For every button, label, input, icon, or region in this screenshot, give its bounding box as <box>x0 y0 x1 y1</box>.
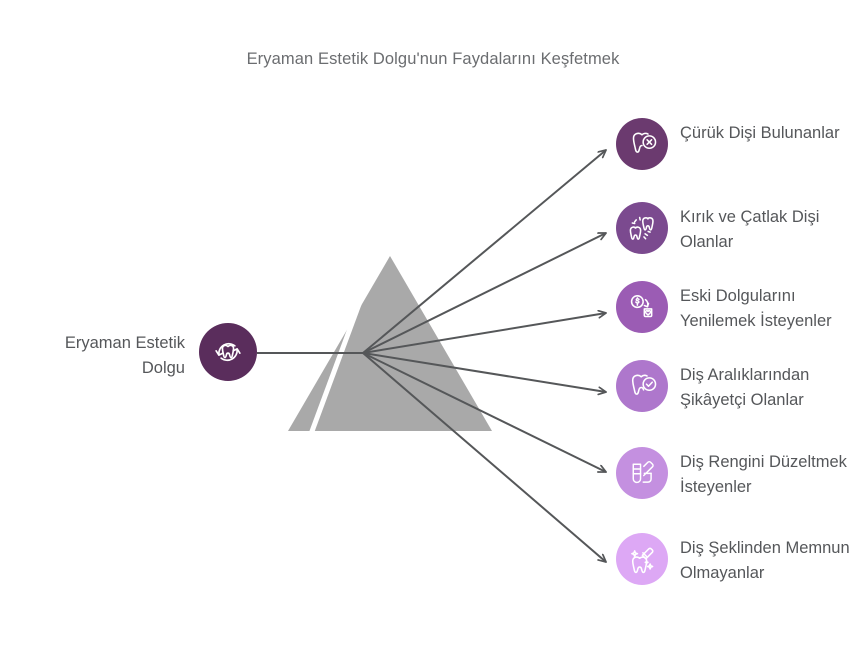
benefit-label-3: Eski Dolgularını Yenilemek İsteyenler <box>680 281 855 333</box>
coin-refresh-icon <box>625 290 659 324</box>
benefit-label-1: Çürük Dişi Bulunanlar <box>680 118 840 146</box>
benefit-icon-1 <box>616 118 668 170</box>
benefit-label-5: Diş Rengini Düzeltmek İsteyenler <box>680 447 855 499</box>
benefit-icon-4 <box>616 360 668 412</box>
benefit-item-6[interactable]: Diş Şeklinden Memnun Olmayanlar <box>616 533 855 585</box>
broken-tooth-icon <box>625 211 659 245</box>
prism-shape <box>288 256 492 434</box>
benefit-label-4: Diş Aralıklarından Şikâyetçi Olanlar <box>680 360 855 412</box>
benefit-item-3[interactable]: Eski Dolgularını Yenilemek İsteyenler <box>616 281 855 333</box>
connector-arrow-6 <box>363 353 606 562</box>
benefit-icon-5 <box>616 447 668 499</box>
diagram-canvas: Eryaman Estetik Dolgu'nun Faydalarını Ke… <box>0 0 866 650</box>
benefit-label-6: Diş Şeklinden Memnun Olmayanlar <box>680 533 855 585</box>
benefit-item-1[interactable]: Çürük Dişi Bulunanlar <box>616 118 840 170</box>
tooth-refresh-icon <box>209 333 247 371</box>
benefit-icon-6 <box>616 533 668 585</box>
tooth-sparkle-brush-icon <box>625 542 659 576</box>
shade-guide-icon <box>626 457 658 489</box>
benefit-icon-3 <box>616 281 668 333</box>
source-node[interactable] <box>199 323 257 381</box>
benefit-item-2[interactable]: Kırık ve Çatlak Dişi Olanlar <box>616 202 855 254</box>
source-label: Eryaman Estetik Dolgu <box>20 331 185 381</box>
benefit-label-2: Kırık ve Çatlak Dişi Olanlar <box>680 202 855 254</box>
tooth-check-icon <box>625 369 659 403</box>
benefit-item-5[interactable]: Diş Rengini Düzeltmek İsteyenler <box>616 447 855 499</box>
benefit-item-4[interactable]: Diş Aralıklarından Şikâyetçi Olanlar <box>616 360 855 412</box>
tooth-cavity-x-icon <box>625 127 659 161</box>
benefit-icon-2 <box>616 202 668 254</box>
